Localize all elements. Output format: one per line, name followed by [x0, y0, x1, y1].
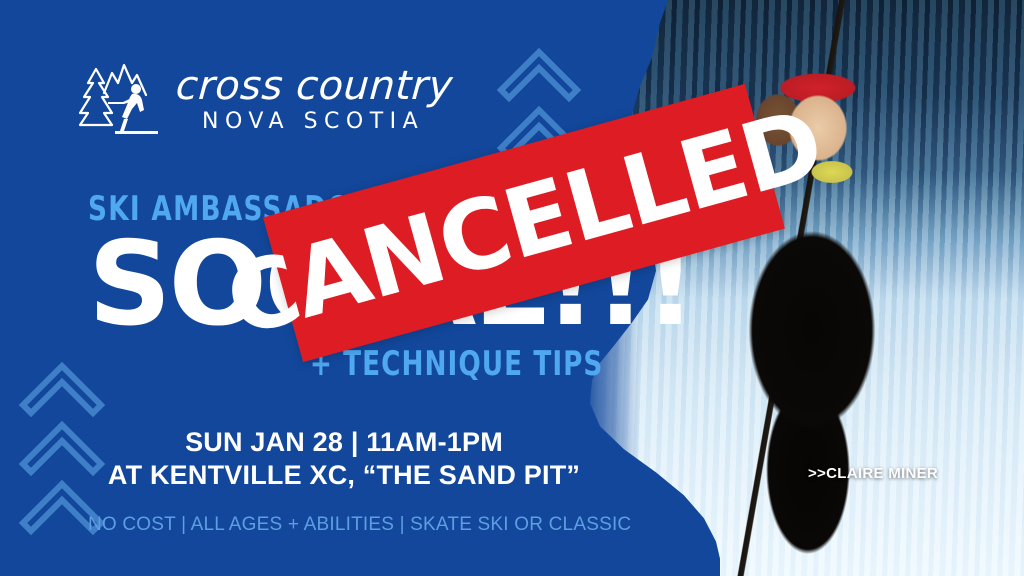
poster-canvas: >>CLAIRE MINER cross country NO — [0, 0, 1024, 576]
photo-credit: >>CLAIRE MINER — [808, 465, 938, 482]
event-details-block: SUN JAN 28 | 11AM-1PM AT KENTVILLE XC, “… — [88, 426, 600, 536]
brand-logo: cross country NOVA SCOTIA — [74, 57, 453, 141]
event-location: AT KENTVILLE XC, “THE SAND PIT” — [88, 459, 600, 492]
logo-subword: NOVA SCOTIA — [176, 111, 453, 133]
logo-wordmark: cross country NOVA SCOTIA — [176, 66, 453, 133]
logo-word: cross country — [175, 66, 455, 106]
event-fineprint: NO COST | ALL AGES + ABILITIES | SKATE S… — [88, 514, 600, 536]
skier-and-tree-logo-icon — [74, 57, 166, 141]
chevron-up-icon — [501, 52, 577, 98]
event-date-time: SUN JAN 28 | 11AM-1PM — [88, 426, 600, 459]
